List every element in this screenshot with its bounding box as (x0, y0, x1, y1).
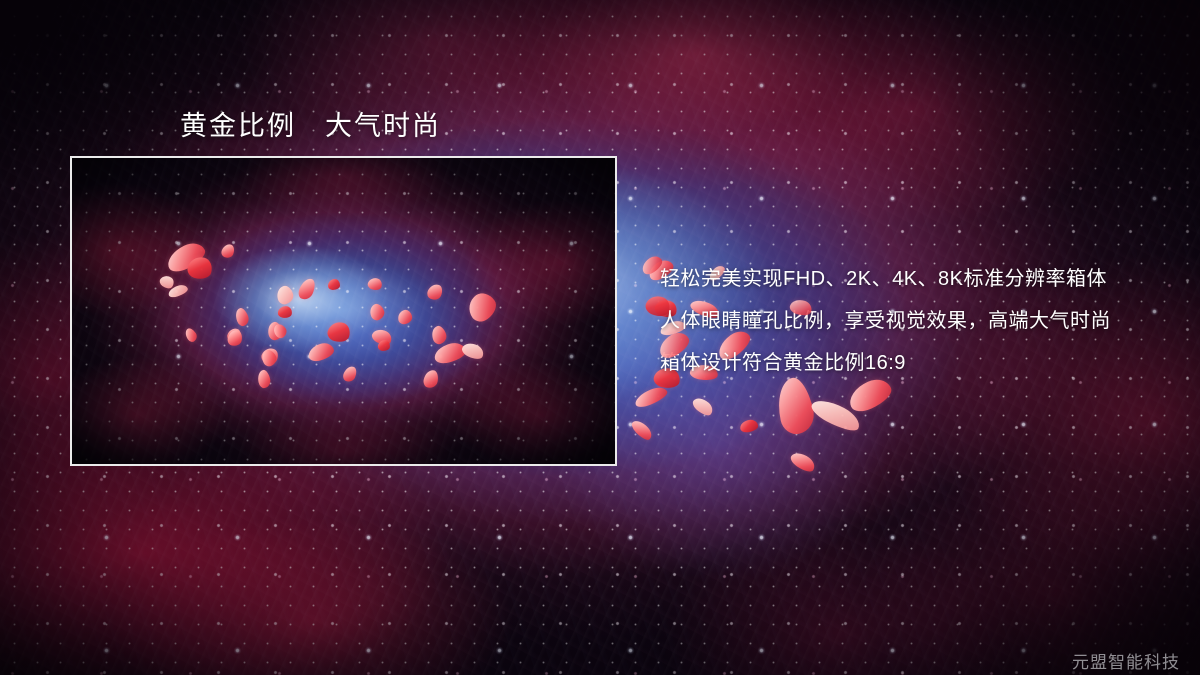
petal (690, 394, 715, 418)
framed-image (70, 156, 617, 466)
body-text-block: 轻松完美实现FHD、2K、4K、8K标准分辨率箱体 人体眼睛瞳孔比例，享受视觉效… (660, 258, 1160, 384)
framed-image-content (72, 158, 615, 464)
petal (629, 417, 654, 443)
frame-vignette (72, 158, 615, 464)
petal (328, 279, 340, 290)
petal (739, 419, 758, 433)
body-line-2: 人体眼睛瞳孔比例，享受视觉效果，高端大气时尚 (660, 300, 1160, 342)
page-title: 黄金比例 大气时尚 (180, 104, 441, 143)
body-line-3: 箱体设计符合黄金比例16:9 (660, 342, 1160, 384)
presentation-slide: 黄金比例 大气时尚 (0, 0, 1200, 675)
watermark: 元盟智能科技 (1072, 648, 1180, 673)
body-line-1: 轻松完美实现FHD、2K、4K、8K标准分辨率箱体 (660, 258, 1160, 300)
petal (633, 384, 670, 410)
petal (788, 449, 817, 475)
